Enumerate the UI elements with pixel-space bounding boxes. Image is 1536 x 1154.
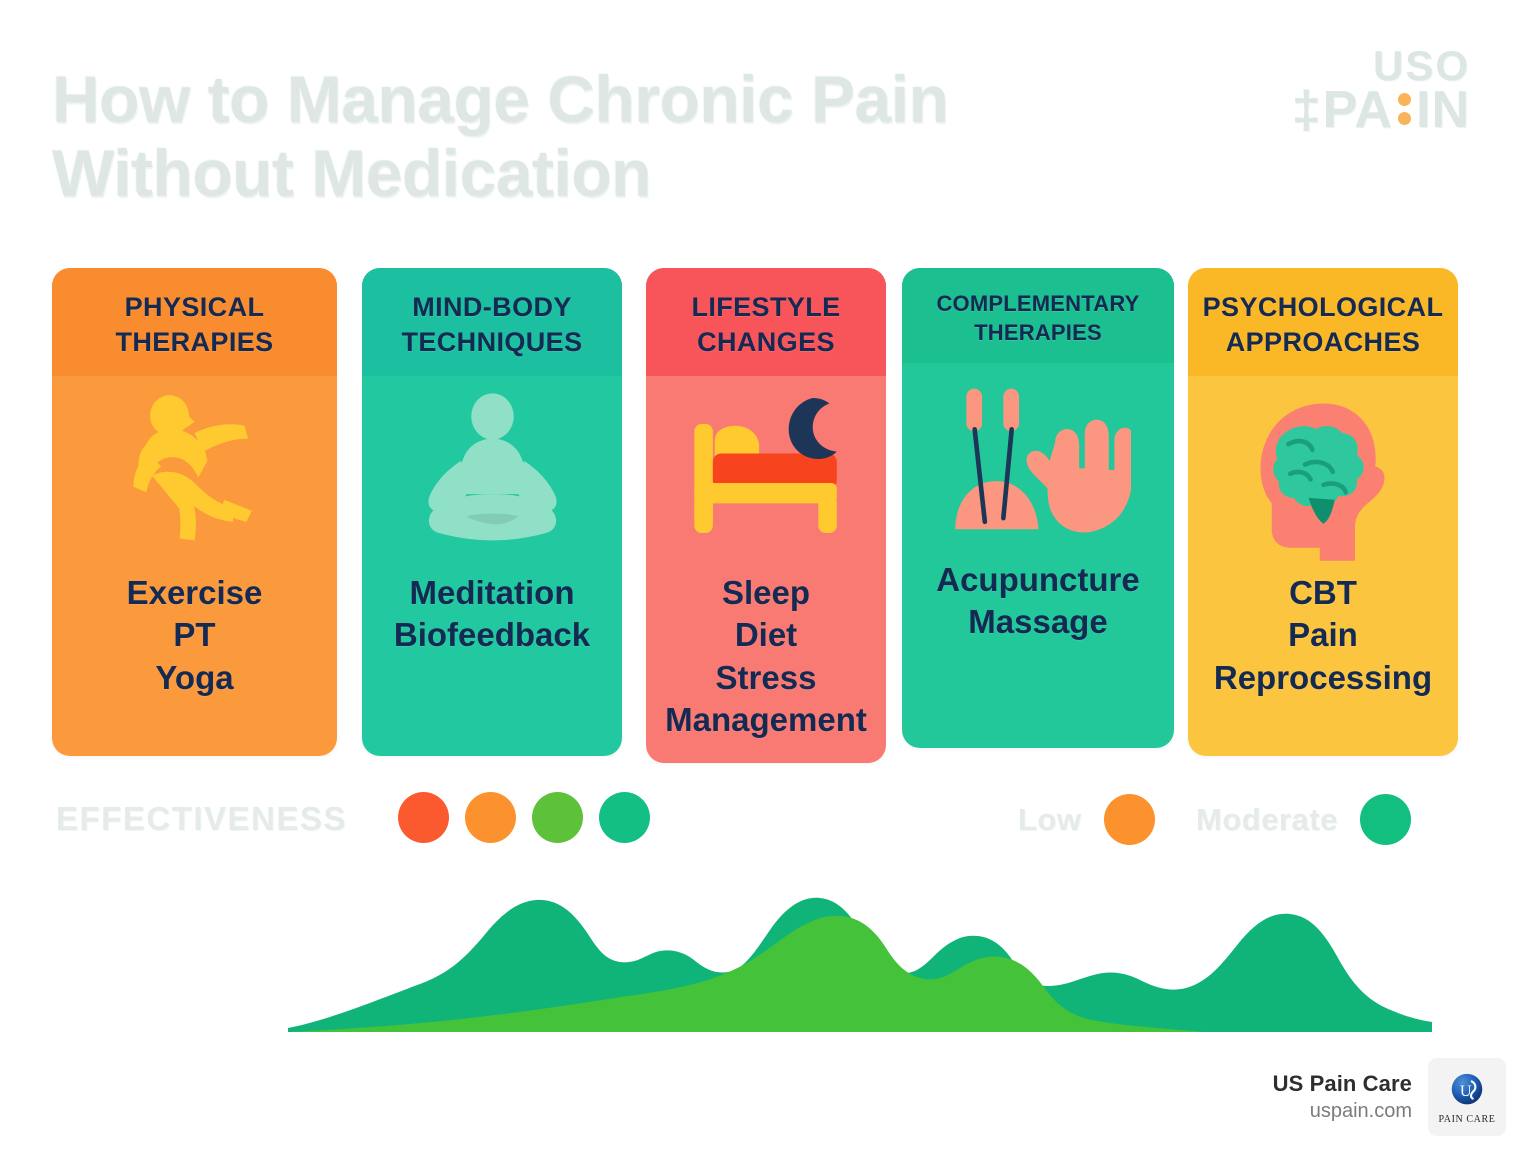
badge-subtitle: PAIN CARE (1439, 1114, 1496, 1125)
us-circle-mark-icon: U (1446, 1070, 1488, 1112)
legend-key-low: Low (1018, 794, 1155, 845)
footer-brand-name: US Pain Care (1273, 1069, 1412, 1099)
effectiveness-label: EFFECTIVENESS (56, 800, 347, 838)
card-icon-slot-5 (1196, 382, 1450, 572)
scale-dot-3-icon (532, 792, 583, 843)
footer-website-url[interactable]: uspain.com (1273, 1098, 1412, 1125)
card-items-4: Acupuncture Massage (932, 559, 1144, 643)
card-items-1: Exercise PT Yoga (123, 572, 267, 699)
card-body-1: Exercise PT Yoga (52, 376, 337, 756)
effectiveness-legend: EFFECTIVENESS Low Moderate (0, 792, 1536, 862)
card-heading-2: MIND-BODY TECHNIQUES (362, 268, 622, 376)
effectiveness-scale-dots (398, 792, 650, 843)
category-card-1[interactable]: PHYSICAL THERAPIESExercise PT Yoga (52, 268, 337, 756)
bed-moon-icon (674, 385, 859, 570)
head-brain-icon (1231, 385, 1416, 570)
card-body-5: CBT Pain Reprocessing (1188, 376, 1458, 756)
card-heading-4: COMPLEMENTARY THERAPIES (902, 268, 1174, 363)
us-pain-care-logo-badge: U PAIN CARE (1428, 1058, 1506, 1136)
category-card-3[interactable]: LIFESTYLE CHANGESSleep Diet Stress Manag… (646, 268, 886, 763)
footer-attribution: US Pain Care uspain.com U PAIN CARE (1273, 1058, 1506, 1136)
card-heading-1: PHYSICAL THERAPIES (52, 268, 337, 376)
card-icon-slot-4 (910, 369, 1166, 559)
card-body-2: Meditation Biofeedback (362, 376, 622, 756)
scale-dot-4-icon (599, 792, 650, 843)
card-icon-slot-2 (370, 382, 614, 572)
exercise-figure-icon (102, 385, 287, 570)
card-heading-3: LIFESTYLE CHANGES (646, 268, 886, 376)
footer-text-block: US Pain Care uspain.com (1273, 1069, 1412, 1126)
legend-key-low-dot-icon (1104, 794, 1155, 845)
card-heading-5: PSYCHOLOGICAL APPROACHES (1188, 268, 1458, 376)
scale-dot-1-icon (398, 792, 449, 843)
acupuncture-hand-icon (946, 372, 1131, 557)
card-icon-slot-3 (654, 382, 878, 572)
svg-text:U: U (1460, 1081, 1472, 1099)
legend-key-moderate-dot-icon (1360, 794, 1411, 845)
card-body-4: Acupuncture Massage (902, 363, 1174, 748)
card-items-5: CBT Pain Reprocessing (1210, 572, 1436, 699)
category-card-5[interactable]: PSYCHOLOGICAL APPROACHESCBT Pain Reproce… (1188, 268, 1458, 756)
category-card-list: PHYSICAL THERAPIESExercise PT YogaMIND-B… (0, 0, 1536, 790)
card-items-2: Meditation Biofeedback (390, 572, 594, 656)
category-card-2[interactable]: MIND-BODY TECHNIQUESMeditation Biofeedba… (362, 268, 622, 756)
infographic-canvas: How to Manage Chronic Pain Without Medic… (0, 0, 1536, 1154)
legend-key-moderate-label: Moderate (1196, 802, 1338, 838)
card-items-3: Sleep Diet Stress Management (661, 572, 871, 741)
card-body-3: Sleep Diet Stress Management (646, 376, 886, 763)
meditation-lotus-icon (400, 385, 585, 570)
category-card-4[interactable]: COMPLEMENTARY THERAPIESAcupuncture Massa… (902, 268, 1174, 748)
legend-key-low-label: Low (1018, 802, 1082, 838)
legend-key-moderate: Moderate (1196, 794, 1411, 845)
mountain-range-graphic (0, 880, 1536, 1040)
scale-dot-2-icon (465, 792, 516, 843)
card-icon-slot-1 (60, 382, 329, 572)
